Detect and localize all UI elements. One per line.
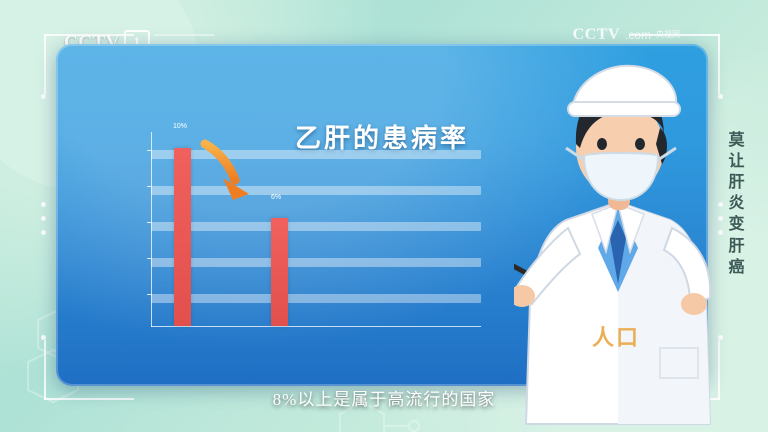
chart-y-tick [147,150,152,151]
watermark-cn-text: 央视网 [656,31,680,39]
chart-gridline [151,222,481,231]
chart-x-axis [151,326,481,327]
cctv-watermark: CCTV .com 央视网 [573,26,680,44]
chart-y-tick [147,294,152,295]
chart-y-tick [147,258,152,259]
coat-logo-text: 人口 [592,320,640,352]
chart-bar-label: 10% [173,123,187,130]
watermark-main-text: CCTV [573,26,620,44]
chart-gridline [151,258,481,267]
chart-bar [174,148,191,326]
program-vertical-caption: 莫 让 肝 炎 变 肝 癌 [724,130,750,278]
watermark-dotcom-text: .com [625,28,651,42]
chart-bar [271,218,288,326]
chart-y-tick [147,222,152,223]
chart-y-tick [147,186,152,187]
chart-gridline [151,294,481,303]
bar-chart: 10% 6% [151,132,481,327]
subtitle-text: 8%以上是属于高流行的国家 [0,385,768,410]
screenshot-root: CCTV 1 综 合 CCTV .com 央视网 乙肝的患病率 [0,0,768,432]
doctor-illustration: 人口 [514,52,744,432]
down-arrow-annotation-icon [199,138,279,208]
